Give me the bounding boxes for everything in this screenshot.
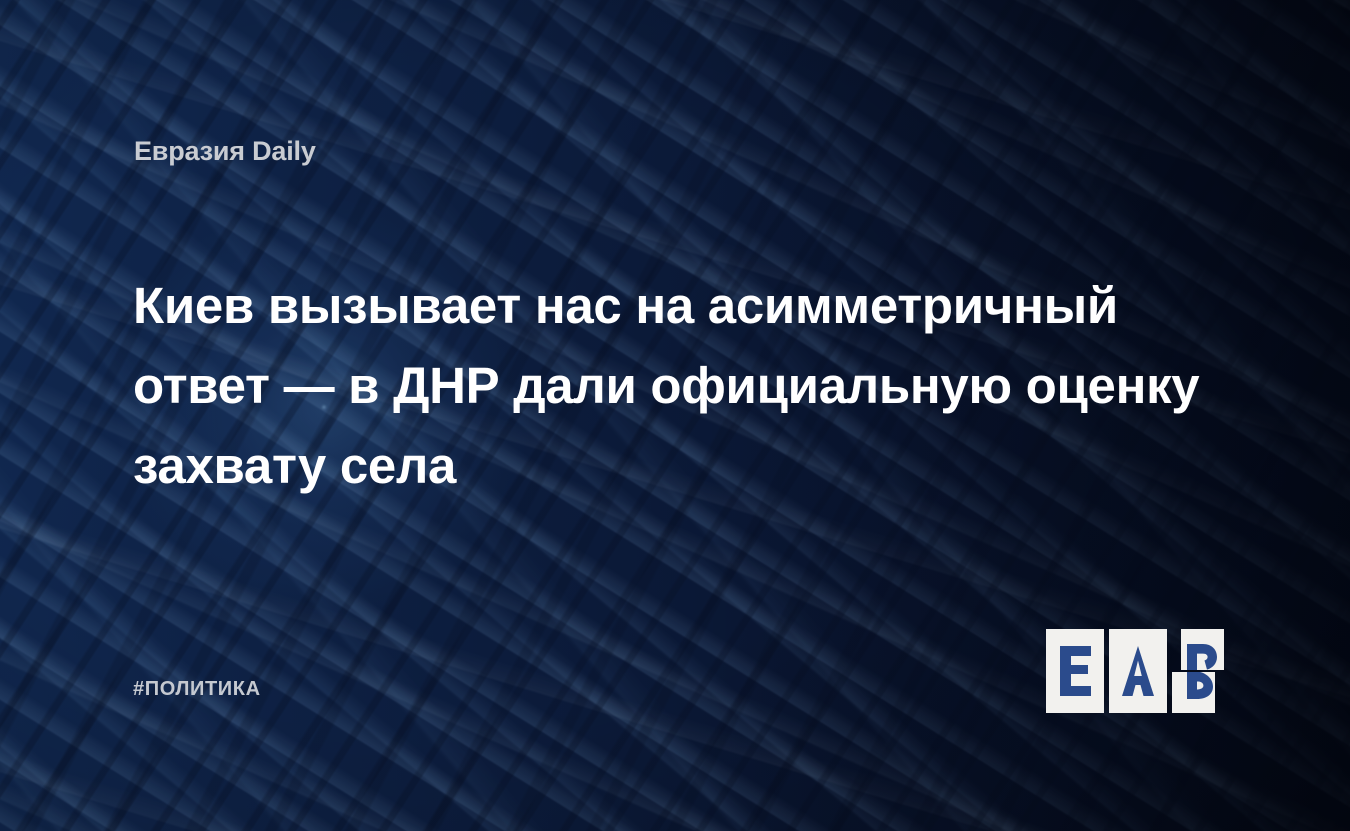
logo-tile-d-lower (1172, 672, 1215, 713)
logo-tile-d-upper (1181, 629, 1224, 670)
headline-text: Киев вызывает нас на асимметричный ответ… (133, 266, 1208, 506)
category-hashtag: #ПОЛИТИКА (133, 678, 261, 701)
card-content: Евразия Daily Киев вызывает нас на асимм… (0, 0, 1350, 831)
logo-tile-a (1109, 629, 1167, 713)
logo-tile-e (1046, 629, 1104, 713)
brand-wordmark: Евразия Daily (134, 136, 316, 167)
ead-logo (1046, 629, 1224, 713)
share-card: Евразия Daily Киев вызывает нас на асимм… (0, 0, 1350, 831)
